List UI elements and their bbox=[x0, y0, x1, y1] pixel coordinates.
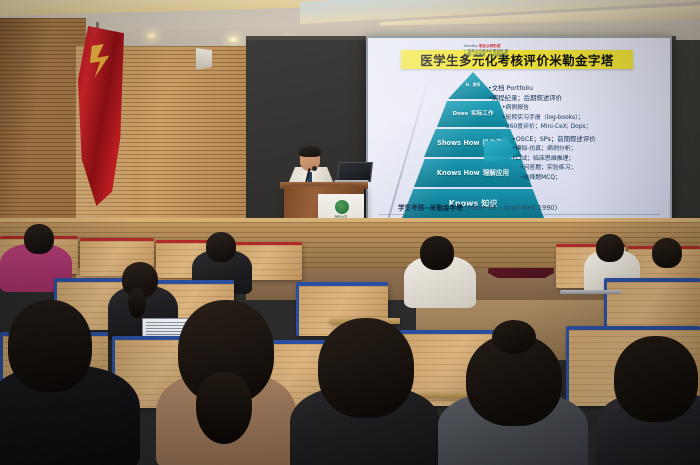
projection-screen: 医学生多元化考核评价米勒金字塔 Is 身份 Does 实际工作 Shows Ho… bbox=[366, 36, 672, 228]
bullet-item: •问答题；实验练习； bbox=[520, 164, 666, 172]
pyramid-level-shows-how-en: Shows How bbox=[437, 139, 479, 147]
pyramid-level-is-cn: 身份 bbox=[472, 83, 480, 88]
caption-divider bbox=[378, 214, 660, 215]
bullet-item: •口试；临床思维推理； bbox=[512, 155, 666, 163]
apex-annotation-en: Identity bbox=[464, 44, 478, 48]
person-head bbox=[8, 300, 92, 392]
slide-bullet-list: •文档 Portfoliu •病程纪录；后期叙述评价 •病例报告 •轮转实习手册… bbox=[488, 84, 666, 183]
bullet-item: •病例报告 bbox=[502, 104, 666, 112]
person-head bbox=[596, 234, 624, 262]
bullet-item: •轮转实习手册（log-books）； bbox=[502, 114, 666, 122]
person-head bbox=[652, 238, 682, 268]
apex-annotation-red: 职业认同形成 bbox=[479, 44, 501, 48]
wall-speaker-icon bbox=[196, 48, 212, 70]
bullet-item: 360度评价；Mini-CeX; Dops； bbox=[506, 123, 666, 131]
apex-annotation: Identity 职业认同形成 一直表示态度评价是如何,做 到同一样思考、行动和… bbox=[464, 44, 574, 58]
university-seal-icon bbox=[334, 199, 350, 215]
bullet-item: •模拟-仿真；病例分析； bbox=[512, 145, 666, 153]
person-head bbox=[318, 318, 414, 418]
person-ponytail bbox=[196, 372, 252, 444]
downlight-icon bbox=[146, 32, 157, 39]
bullet-item: •病程纪录；后期叙述评价 bbox=[488, 94, 666, 103]
presenter-hair bbox=[299, 146, 321, 157]
pyramid-level-does-en: Does bbox=[452, 111, 468, 118]
person-ponytail bbox=[128, 288, 146, 318]
presenter-laptop-screen bbox=[337, 162, 373, 182]
microphone-icon bbox=[312, 166, 317, 171]
pyramid-level-is-en: Is bbox=[466, 83, 470, 88]
person-head bbox=[420, 236, 454, 270]
slide-surface: 医学生多元化考核评价米勒金字塔 Is 身份 Does 实际工作 Shows Ho… bbox=[368, 38, 670, 226]
downlight-icon bbox=[228, 36, 239, 43]
bullet-item: •OSCE；SPs；前期叙述评价 bbox=[512, 135, 666, 144]
pyramid-level-knows-how-en: Knows How bbox=[437, 169, 480, 177]
slide-caption-reference: (Miller GE : Acad Med 1990) bbox=[465, 204, 557, 212]
bullet-item: •选择题MCQ； bbox=[520, 174, 666, 182]
slide-caption: 学生考核--米勒金字塔 (Miller GE : Acad Med 1990) bbox=[398, 202, 648, 212]
apex-annotation-line3: 到同一样思考、行动和感觉 bbox=[464, 53, 574, 58]
person-head bbox=[206, 232, 236, 262]
slide-caption-main: 学生考核--米勒金字塔 bbox=[398, 204, 463, 212]
bullet-item: •文档 Portfoliu bbox=[488, 84, 666, 93]
person-hair-bun bbox=[492, 320, 536, 354]
lecture-hall-photo: 医学生多元化考核评价米勒金字塔 Is 身份 Does 实际工作 Shows Ho… bbox=[0, 0, 700, 465]
person-head bbox=[614, 336, 698, 422]
armrest bbox=[560, 290, 622, 294]
person-head bbox=[24, 224, 54, 254]
